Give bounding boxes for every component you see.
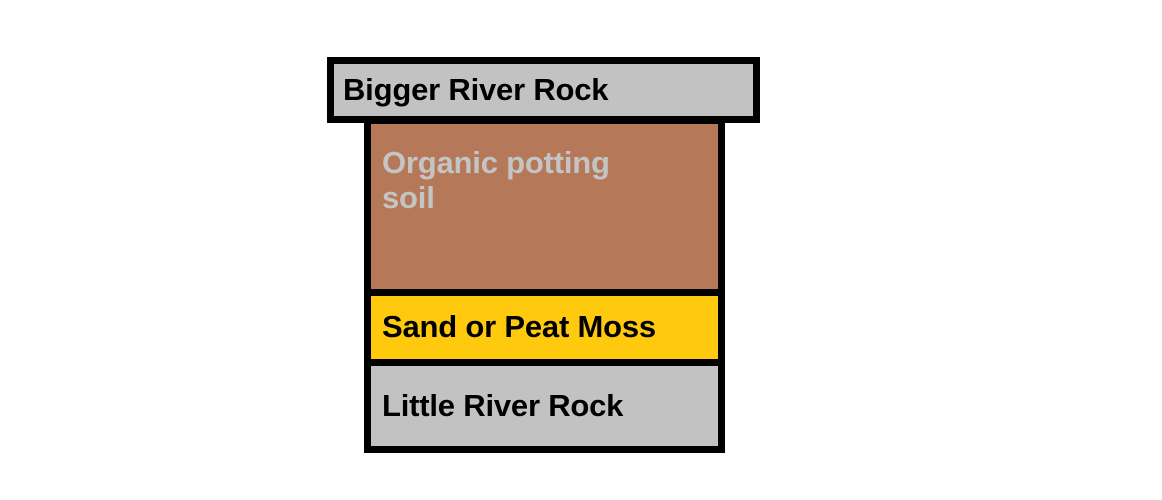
layer-sand-or-peat-moss: Sand or Peat Moss bbox=[371, 289, 718, 359]
layer-organic-potting-soil: Organic potting soil bbox=[371, 124, 718, 289]
layer-label-bigger-river-rock: Bigger River Rock bbox=[334, 74, 608, 107]
planter-layer-diagram: Bigger River Rock Organic potting soil S… bbox=[0, 0, 1162, 500]
layer-label-sand-or-peat-moss: Sand or Peat Moss bbox=[371, 310, 718, 345]
layer-stack: Organic potting soil Sand or Peat Moss L… bbox=[364, 117, 725, 453]
layer-bigger-river-rock: Bigger River Rock bbox=[327, 57, 760, 123]
layer-label-little-river-rock: Little River Rock bbox=[371, 389, 718, 424]
layer-little-river-rock: Little River Rock bbox=[371, 359, 718, 446]
layer-label-organic-potting-soil: Organic potting soil bbox=[371, 124, 660, 215]
